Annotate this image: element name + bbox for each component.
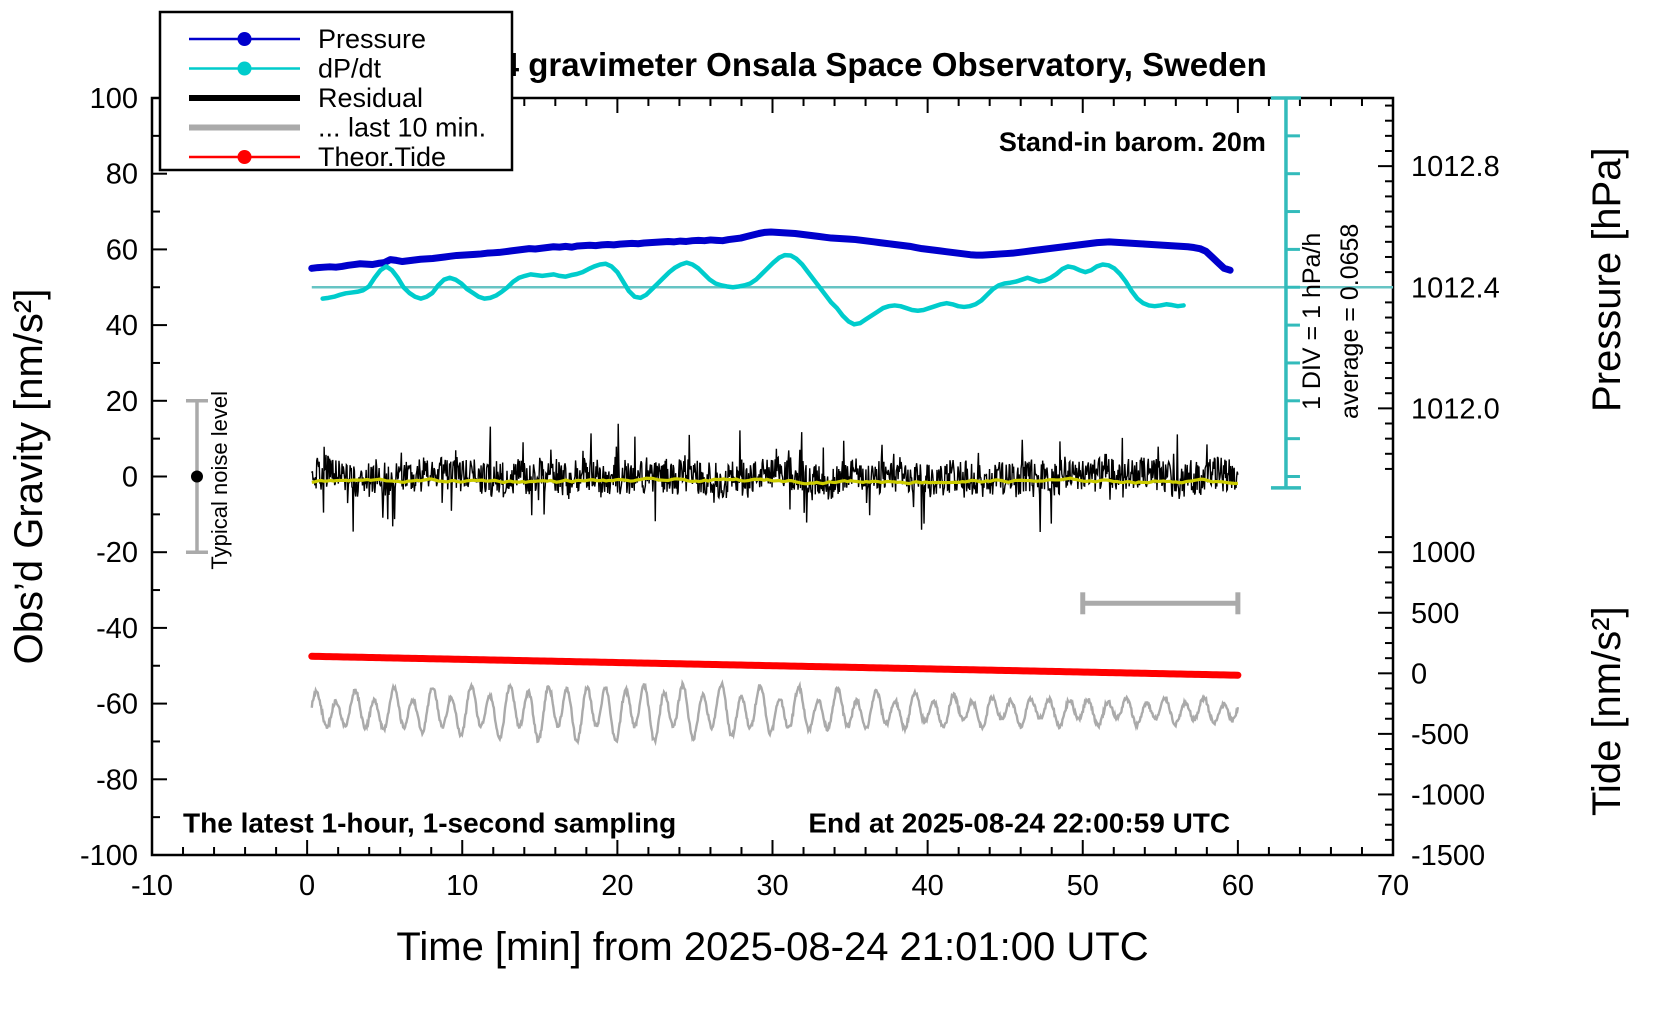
x-tick-label: 0 bbox=[299, 870, 315, 902]
y-axis-title-left: Obs’d Gravity [nm/s²] bbox=[7, 289, 51, 665]
legend-marker bbox=[238, 62, 252, 76]
y-tick-label: 20 bbox=[106, 386, 138, 418]
tide-tick-label: 0 bbox=[1411, 658, 1427, 690]
legend-label: Residual bbox=[318, 83, 423, 113]
y-tick-label: -100 bbox=[80, 840, 138, 872]
noise-level-label: Typical noise level bbox=[207, 391, 232, 570]
y-axis-title-pressure: Pressure [hPa] bbox=[1585, 147, 1629, 412]
data-series bbox=[312, 232, 1393, 742]
x-axis-title: Time [min] from 2025-08-24 21:01:00 UTC bbox=[396, 925, 1148, 969]
y-tick-label: -60 bbox=[96, 689, 138, 721]
last10min-curve bbox=[312, 683, 1238, 742]
legend-label: Theor.Tide bbox=[318, 142, 446, 172]
pressure-tick-label: 1012.0 bbox=[1411, 393, 1500, 425]
pressure-tick-label: 1012.4 bbox=[1411, 272, 1500, 304]
y-axis-right: 1012.81012.41012.010005000-500-1000-1500… bbox=[1378, 106, 1629, 872]
y-tick-label: 60 bbox=[106, 234, 138, 266]
div-scale-label: 1 DIV = 1 hPa/h bbox=[1298, 233, 1326, 410]
residual-curve bbox=[312, 424, 1238, 532]
dpdt-curve bbox=[323, 255, 1184, 324]
y-tick-label: -80 bbox=[96, 764, 138, 796]
x-tick-label: 40 bbox=[911, 870, 943, 902]
tide-tick-label: -500 bbox=[1411, 719, 1469, 751]
y-tick-label: 100 bbox=[90, 83, 138, 115]
y-tick-label: -20 bbox=[96, 537, 138, 569]
chart-figure: -10010203040506070Time [min] from 2025-0… bbox=[0, 0, 1660, 1020]
sampling-note-label: The latest 1-hour, 1-second sampling bbox=[183, 807, 676, 838]
x-tick-label: 50 bbox=[1067, 870, 1099, 902]
y-tick-label: 0 bbox=[122, 462, 138, 494]
tide-tick-label: 1000 bbox=[1411, 537, 1476, 569]
y-tick-label: -40 bbox=[96, 613, 138, 645]
gravimeter-plot-svg: -10010203040506070Time [min] from 2025-0… bbox=[0, 0, 1660, 1020]
x-tick-label: 70 bbox=[1377, 870, 1409, 902]
y-axis-title-tide: Tide [nm/s²] bbox=[1585, 606, 1629, 816]
y-tick-label: 40 bbox=[106, 310, 138, 342]
noise-center-dot bbox=[191, 471, 203, 483]
legend-label: dP/dt bbox=[318, 54, 382, 84]
y-tick-label: 80 bbox=[106, 159, 138, 191]
legend-marker bbox=[238, 150, 252, 164]
tide-tick-label: 500 bbox=[1411, 598, 1459, 630]
end-time-label: End at 2025-08-24 22:00:59 UTC bbox=[808, 807, 1230, 838]
legend-label: Pressure bbox=[318, 24, 426, 54]
y-axis-left: 100806040200-20-40-60-80-100Obs’d Gravit… bbox=[7, 83, 167, 872]
legend-label: ... last 10 min. bbox=[318, 113, 486, 143]
x-tick-label: 60 bbox=[1222, 870, 1254, 902]
x-tick-label: 30 bbox=[756, 870, 788, 902]
x-tick-label: -10 bbox=[131, 870, 173, 902]
pressure-tick-label: 1012.8 bbox=[1411, 151, 1500, 183]
legend[interactable]: PressuredP/dtResidual... last 10 min.The… bbox=[160, 12, 512, 172]
average-label: average = 0.0658 bbox=[1336, 224, 1364, 419]
legend-marker bbox=[238, 32, 252, 46]
tide-tick-label: -1500 bbox=[1411, 840, 1485, 872]
x-tick-label: 10 bbox=[446, 870, 478, 902]
theoretical-tide-curve bbox=[312, 656, 1238, 675]
standin-barom-label: Stand-in barom. 20m bbox=[999, 127, 1266, 157]
tide-tick-label: -1000 bbox=[1411, 779, 1485, 811]
x-tick-label: 20 bbox=[601, 870, 633, 902]
